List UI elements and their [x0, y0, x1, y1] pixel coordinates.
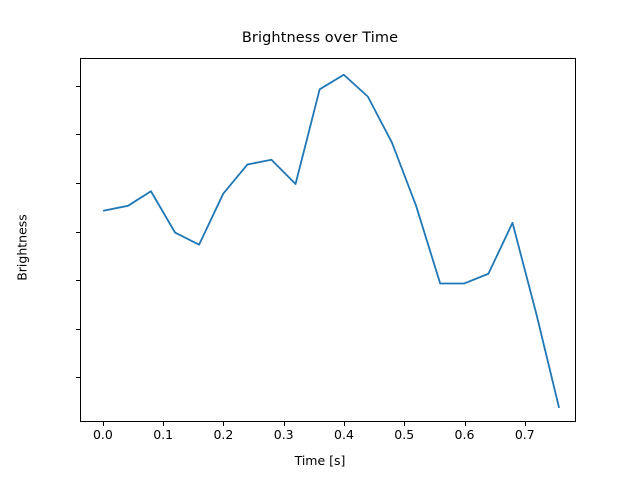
x-tick-mark	[284, 422, 285, 426]
x-tick-label: 0.3	[274, 427, 294, 442]
y-axis-label: Brightness	[15, 188, 30, 308]
x-tick-label: 0.1	[153, 427, 173, 442]
x-tick-mark	[465, 422, 466, 426]
x-tick-mark	[344, 422, 345, 426]
x-tick-label: 0.0	[93, 427, 113, 442]
x-tick-mark	[163, 422, 164, 426]
matplotlib-figure: Brightness over Time Brightness 60801001…	[0, 0, 640, 480]
x-tick-label: 0.6	[455, 427, 475, 442]
x-tick-label: 0.7	[515, 427, 535, 442]
x-tick-mark	[525, 422, 526, 426]
x-tick-mark	[103, 422, 104, 426]
x-axis-label: Time [s]	[0, 453, 640, 468]
x-tick-label: 0.4	[334, 427, 354, 442]
data-line-svg	[81, 59, 577, 423]
plot-area	[80, 58, 576, 422]
x-tick-label: 0.5	[394, 427, 414, 442]
x-tick-label: 0.2	[213, 427, 233, 442]
x-tick-mark	[223, 422, 224, 426]
chart-title: Brightness over Time	[0, 30, 640, 46]
brightness-line-series	[104, 75, 559, 407]
x-tick-mark	[404, 422, 405, 426]
